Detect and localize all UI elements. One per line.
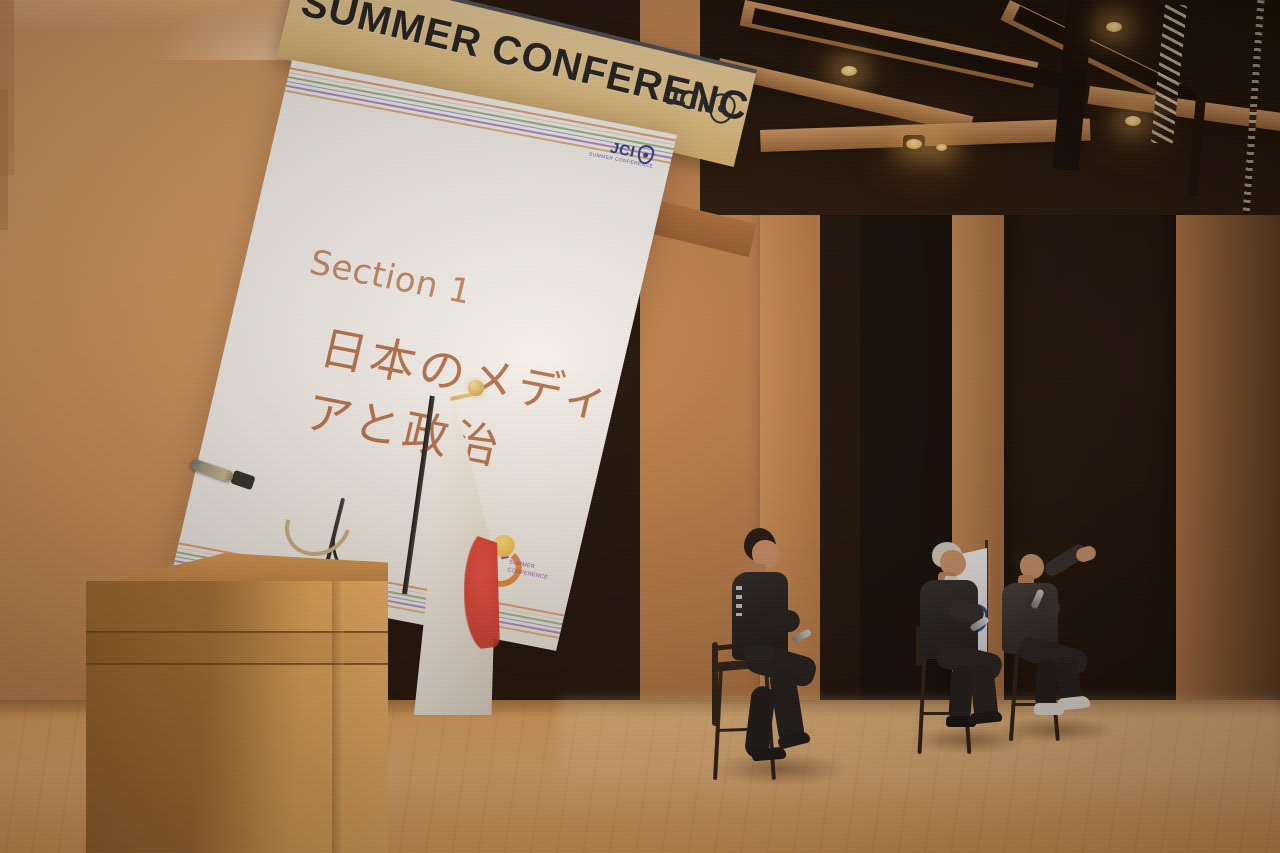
ceiling-spotlight <box>936 144 947 151</box>
panelist-right <box>990 545 1140 760</box>
podium-shading <box>86 581 388 853</box>
stage-column-right <box>1176 150 1222 710</box>
panelist-hip <box>744 646 774 660</box>
left-wall-trim-secondary <box>0 90 8 230</box>
ceiling-spotlight <box>841 66 857 76</box>
ceiling-spotlight <box>906 139 922 149</box>
speaking-podium <box>86 535 396 853</box>
stage-photo-scene: SUMMER CONFERENCE 2017 JCI JCI SUMMER CO… <box>0 0 1280 853</box>
ceiling-spotlight <box>1106 22 1122 32</box>
panelist-sneaker <box>1057 695 1090 710</box>
panelist-left <box>700 520 860 800</box>
gold-ball-finial-icon <box>468 380 484 396</box>
slide-section-label: Section 1 <box>306 243 476 313</box>
shirt-sleeve-print <box>736 586 742 616</box>
panelist-lower-leg <box>1035 658 1059 709</box>
ceiling-spotlight <box>1125 116 1141 126</box>
stage-column-far-right <box>1222 150 1280 710</box>
